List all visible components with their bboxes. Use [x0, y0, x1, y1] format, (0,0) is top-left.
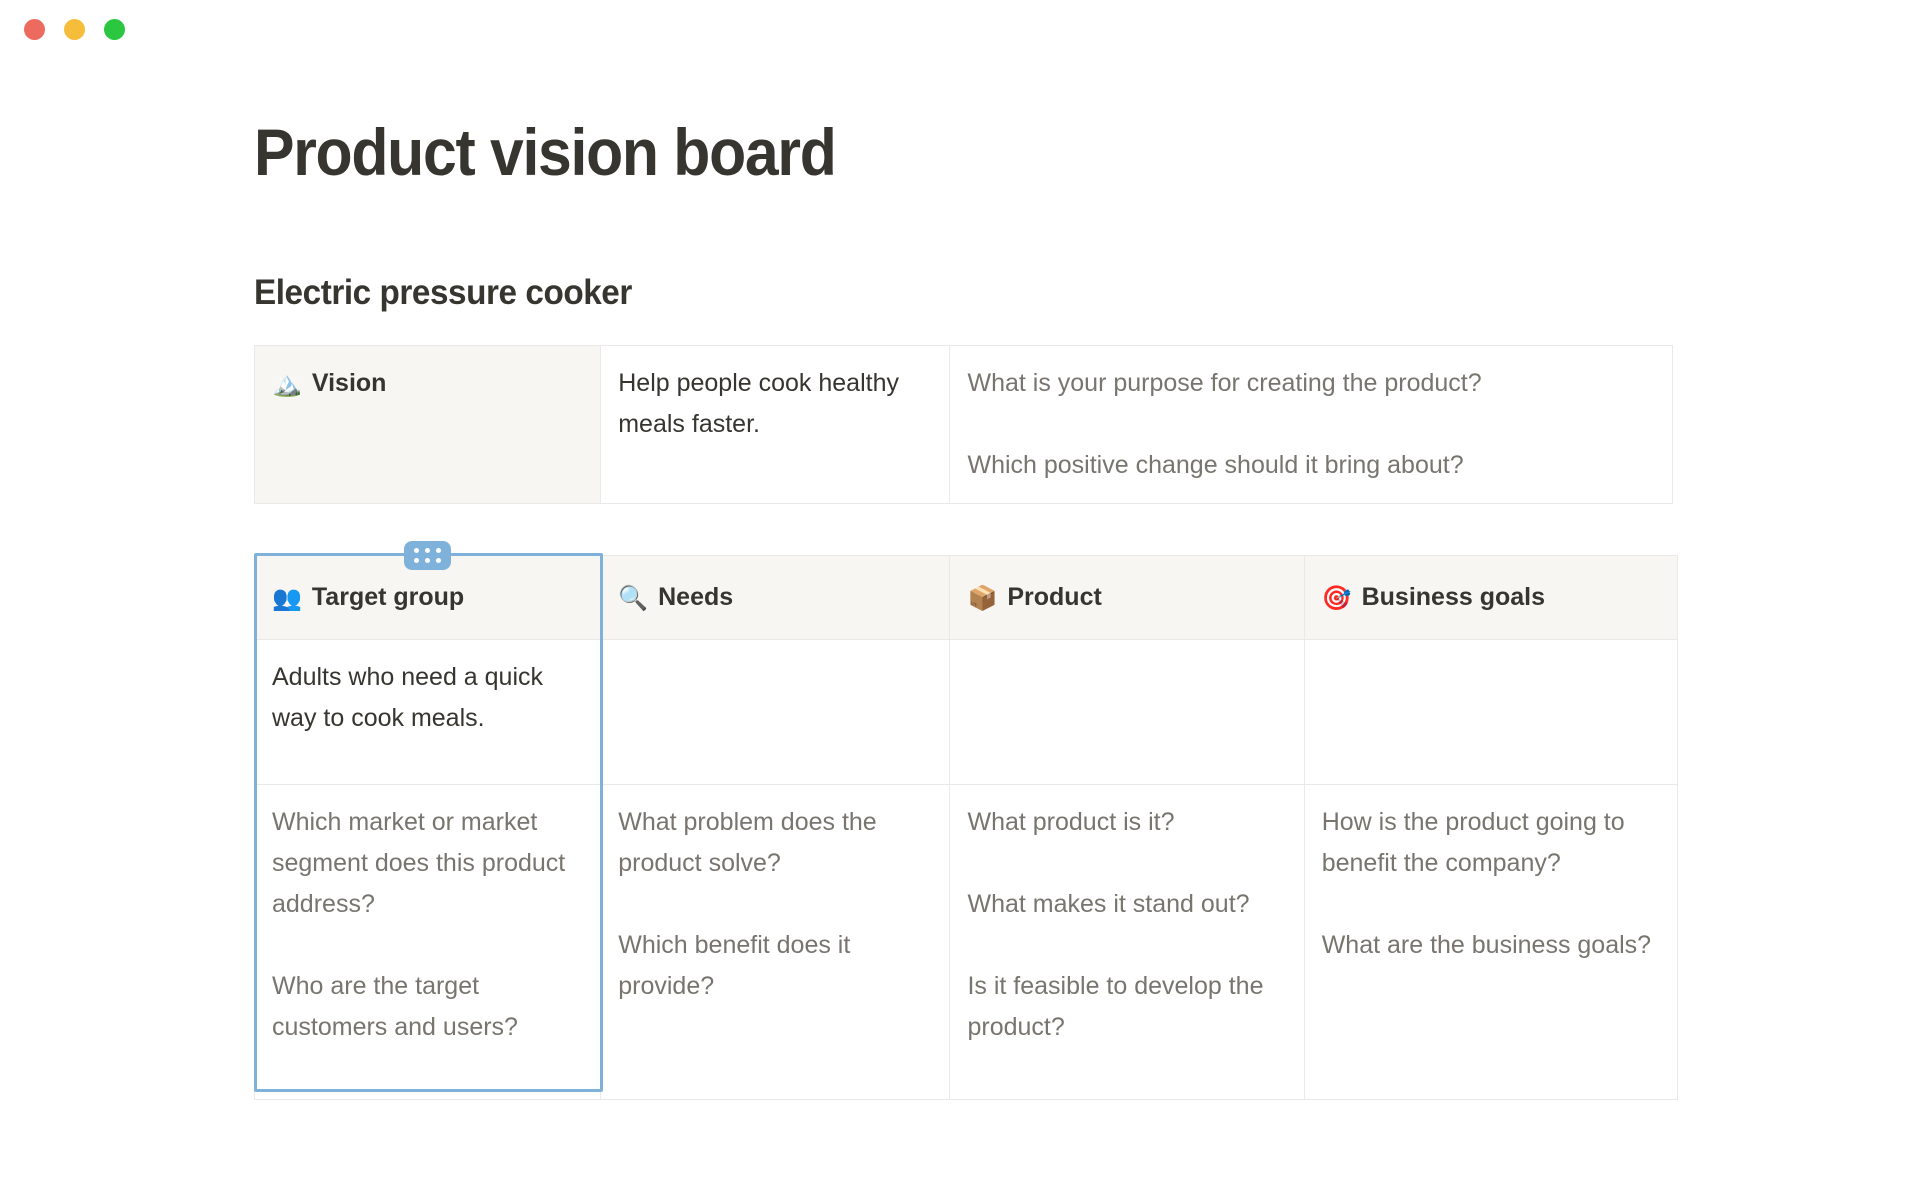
cell-business-goals-value[interactable] [1304, 640, 1677, 785]
vision-header-cell[interactable]: 🏔️Vision [255, 346, 601, 504]
busts-in-silhouette-icon: 👥 [272, 587, 302, 611]
column-header-business-goals[interactable]: 🎯Business goals [1304, 556, 1677, 640]
paragraph-spacer [967, 404, 1652, 445]
placeholder-line: What problem does the product solve? [618, 802, 929, 884]
vision-placeholder-cell[interactable]: What is your purpose for creating the pr… [950, 346, 1673, 504]
column-header-label: Needs [658, 577, 733, 618]
column-header-product[interactable]: 📦Product [950, 556, 1304, 640]
column-drag-handle[interactable] [404, 541, 451, 570]
paragraph-spacer [967, 843, 1283, 884]
placeholder-line: What are the business goals? [1322, 925, 1657, 966]
vision-board-table: 👥Target group 🔍Needs 📦Product 🎯Business … [254, 555, 1678, 1100]
paragraph-spacer [618, 884, 929, 925]
placeholder-line: Which benefit does it provide? [618, 925, 929, 1007]
column-header-label: Target group [312, 577, 464, 618]
vision-value-text: Help people cook healthy meals faster. [618, 369, 899, 438]
placeholder-line: Which market or market segment does this… [272, 802, 580, 925]
cell-needs-value[interactable] [601, 640, 950, 785]
section-heading[interactable]: Electric pressure cooker [254, 270, 632, 316]
placeholder-line: Who are the target customers and users? [272, 966, 580, 1048]
page-title[interactable]: Product vision board [254, 112, 836, 192]
cell-product-placeholder[interactable]: What product is it? What makes it stand … [950, 785, 1304, 1100]
placeholder-line: Which positive change should it bring ab… [967, 445, 1652, 486]
table-row: Adults who need a quick way to cook meal… [255, 640, 1678, 785]
table-row: Which market or market segment does this… [255, 785, 1678, 1100]
table-row: 👥Target group 🔍Needs 📦Product 🎯Business … [255, 556, 1678, 640]
magnifying-glass-icon: 🔍 [618, 587, 648, 611]
cell-product-value[interactable] [950, 640, 1304, 785]
paragraph-spacer [1322, 884, 1657, 925]
package-icon: 📦 [967, 587, 997, 611]
column-header-label: Business goals [1362, 577, 1545, 618]
document-canvas: Product vision board Electric pressure c… [0, 0, 1920, 1200]
cell-target-group-value[interactable]: Adults who need a quick way to cook meal… [255, 640, 601, 785]
placeholder-line: How is the product going to benefit the … [1322, 802, 1657, 884]
placeholder-line: Is it feasible to develop the product? [967, 966, 1283, 1048]
grip-dots-icon [414, 548, 441, 563]
vision-table: 🏔️Vision Help people cook healthy meals … [254, 345, 1673, 504]
table-row: 🏔️Vision Help people cook healthy meals … [255, 346, 1673, 504]
placeholder-line: What product is it? [967, 802, 1283, 843]
paragraph-spacer [272, 925, 580, 966]
vision-value-cell[interactable]: Help people cook healthy meals faster. [601, 346, 950, 504]
direct-hit-icon: 🎯 [1322, 587, 1352, 611]
column-header-label: Product [1007, 577, 1101, 618]
cell-needs-placeholder[interactable]: What problem does the product solve? Whi… [601, 785, 950, 1100]
cell-target-group-placeholder[interactable]: Which market or market segment does this… [255, 785, 601, 1100]
cell-text: Adults who need a quick way to cook meal… [272, 663, 543, 732]
cell-business-goals-placeholder[interactable]: How is the product going to benefit the … [1304, 785, 1677, 1100]
mountain-icon: 🏔️ [272, 373, 302, 397]
placeholder-line: What is your purpose for creating the pr… [967, 363, 1652, 404]
vision-header-label: Vision [312, 363, 387, 404]
paragraph-spacer [967, 925, 1283, 966]
placeholder-line: What makes it stand out? [967, 884, 1283, 925]
column-header-needs[interactable]: 🔍Needs [601, 556, 950, 640]
